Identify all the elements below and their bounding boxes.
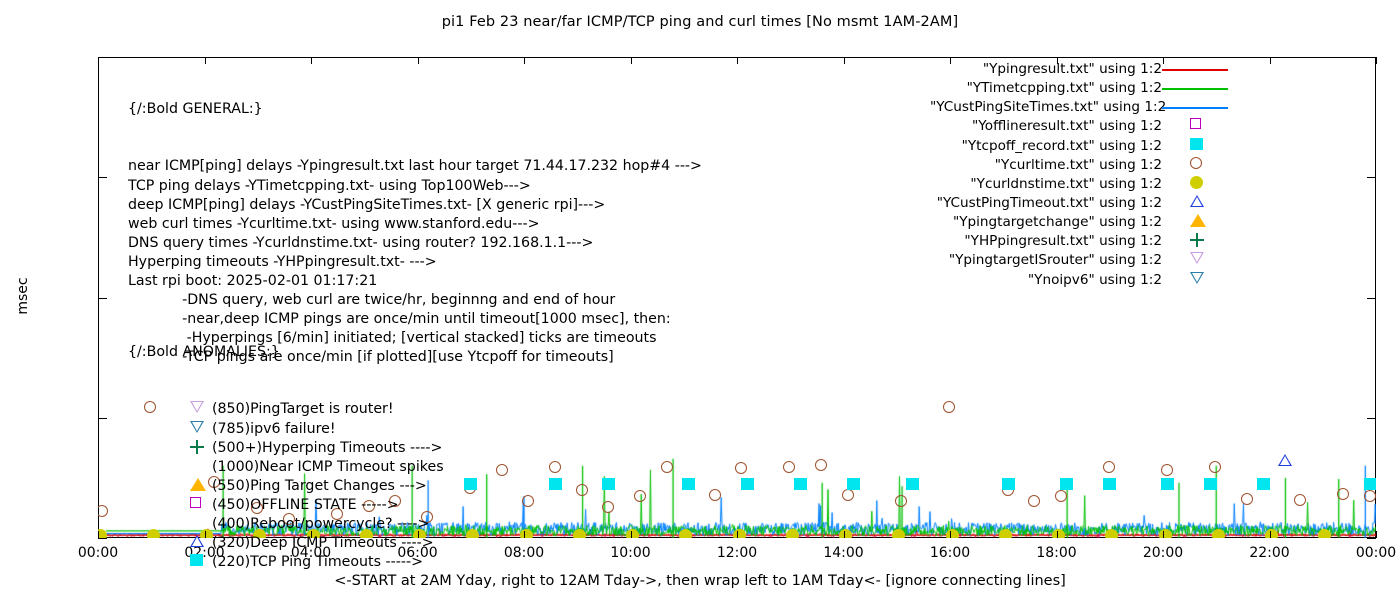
tcp-timeout-point <box>906 478 919 490</box>
x-tick-mark <box>737 57 738 64</box>
circle-filled-marker <box>1162 175 1252 194</box>
legend-entry: "YTimetcpping.txt" using 1:2 <box>930 79 1270 98</box>
anomaly-item: (850)PingTarget is router! <box>128 400 280 419</box>
triangle-up-open-marker <box>190 535 210 552</box>
legend-label: "YHPpingresult.txt" using 1:2 <box>964 233 1162 249</box>
x-tick-label: 12:00 <box>702 545 772 561</box>
legend-label: "Ypingtargetchange" using 1:2 <box>953 214 1162 230</box>
dns-time-point <box>1052 529 1065 538</box>
dns-time-point <box>946 529 959 538</box>
y-tick-mark <box>1367 298 1376 299</box>
triangle-up-filled-marker <box>1162 213 1252 232</box>
anomaly-item: (550)Ping Target Changes ---> <box>128 477 280 496</box>
anomaly-item: (400)Reboot/powercycle? ----> <box>128 515 280 534</box>
anomaly-label: (450)OFFLINE STATE -----> <box>212 496 399 515</box>
tcp-timeout-point <box>602 478 615 490</box>
dns-time-point <box>892 529 905 538</box>
dns-time-point <box>520 529 533 538</box>
legend-entry: "YCustPingTimeout.txt" using 1:2 <box>930 194 1270 213</box>
curl-time-point <box>842 489 854 501</box>
x-tick-label: 22:00 <box>1235 545 1305 561</box>
triangle-down-blue-marker <box>1162 271 1252 290</box>
anomaly-label: (320)Deep ICMP Timeouts ----> <box>212 534 434 553</box>
y-tick-mark <box>98 177 107 178</box>
line-key <box>1162 60 1252 79</box>
triangle-up-filled-marker <box>190 478 210 495</box>
chart-legend: "Ypingresult.txt" using 1:2"YTimetcpping… <box>930 60 1270 290</box>
tcp-timeout-point <box>794 478 807 490</box>
legend-label: "Ynoipv6" using 1:2 <box>1028 272 1162 288</box>
line-key <box>1162 79 1252 98</box>
plus-marker <box>190 440 210 457</box>
triangle-up-open-marker <box>1162 194 1252 213</box>
dns-time-point <box>733 529 746 538</box>
plus-marker <box>1162 232 1252 251</box>
triangle-down-blue-marker <box>190 421 210 438</box>
curl-time-point <box>709 489 721 501</box>
legend-entry: "Ytcpoff_record.txt" using 1:2 <box>930 137 1270 156</box>
legend-entry: "Ypingresult.txt" using 1:2 <box>930 60 1270 79</box>
legend-label: "Ytcpoff_record.txt" using 1:2 <box>962 138 1162 154</box>
x-tick-mark <box>98 531 99 538</box>
square-filled-marker <box>190 554 210 571</box>
y-tick-mark <box>1367 418 1376 419</box>
tcp-timeout-point <box>1002 478 1015 490</box>
x-tick-label: 16:00 <box>915 545 985 561</box>
x-tick-label: 08:00 <box>489 545 559 561</box>
dns-time-point <box>98 529 107 538</box>
x-tick-mark <box>737 531 738 538</box>
curl-time-point <box>661 461 673 473</box>
legend-entry: "YpingtargetISrouter" using 1:2 <box>930 251 1270 270</box>
dns-time-point <box>1159 529 1172 538</box>
tcp-timeout-point <box>1257 478 1270 490</box>
general-line: TCP ping delays -YTimetcpping.txt- using… <box>128 177 702 196</box>
y-tick-mark <box>1367 57 1376 58</box>
x-tick-label: 14:00 <box>809 545 879 561</box>
anomaly-item: (450)OFFLINE STATE -----> <box>128 496 280 515</box>
x-tick-mark <box>1163 531 1164 538</box>
x-tick-mark <box>1376 531 1377 538</box>
curl-time-point <box>815 459 827 471</box>
anomaly-item: (500+)Hyperping Timeouts ----> <box>128 439 280 458</box>
y-tick-mark <box>1367 177 1376 178</box>
y-tick-mark <box>98 418 107 419</box>
y-axis-label: msec <box>15 266 31 326</box>
y-tick-mark <box>1367 538 1376 539</box>
x-tick-mark <box>950 531 951 538</box>
legend-label: "YTimetcpping.txt" using 1:2 <box>967 80 1162 96</box>
chart-title: pi1 Feb 23 near/far ICMP/TCP ping and cu… <box>0 14 1400 30</box>
tcp-timeout-point <box>1161 478 1174 490</box>
anomalies-header: {/:Bold ANOMALIES:} <box>128 343 280 362</box>
circle-open-marker <box>1162 156 1252 175</box>
anomaly-label: (400)Reboot/powercycle? ----> <box>212 515 429 534</box>
x-tick-label: 20:00 <box>1128 545 1198 561</box>
dns-time-point <box>786 529 799 538</box>
anomaly-label: (785)ipv6 failure! <box>212 420 336 439</box>
tcp-timeout-point <box>1364 478 1376 490</box>
legend-entry: "Ynoipv6" using 1:2 <box>930 271 1270 290</box>
curl-time-point <box>1241 493 1253 505</box>
dns-time-point <box>1212 529 1225 538</box>
square-filled-marker <box>1162 137 1252 156</box>
dns-time-point <box>1105 529 1118 538</box>
x-tick-label: 00:00 <box>1341 545 1400 561</box>
tcp-timeout-point <box>549 478 562 490</box>
curl-time-point <box>1055 490 1067 502</box>
legend-entry: "Ycurltime.txt" using 1:2 <box>930 156 1270 175</box>
anomalies-annotation: {/:Bold ANOMALIES:} (850)PingTarget is r… <box>128 305 280 611</box>
curl-time-point <box>496 464 508 476</box>
legend-entry: "YHPpingresult.txt" using 1:2 <box>930 232 1270 251</box>
general-line: deep ICMP[ping] delays -YCustPingSiteTim… <box>128 196 702 215</box>
general-line: DNS query times -Ycurldnstime.txt- using… <box>128 234 702 253</box>
y-tick-mark <box>98 538 107 539</box>
legend-entry: "Yofflineresult.txt" using 1:2 <box>930 117 1270 136</box>
x-tick-mark <box>844 531 845 538</box>
legend-entry: "YCustPingSiteTimes.txt" using 1:2 <box>930 98 1270 117</box>
dns-time-point <box>999 529 1012 538</box>
triangle-down-violet-marker <box>190 401 210 418</box>
x-tick-mark <box>1270 531 1271 538</box>
triangle-down-violet-marker <box>1162 251 1252 270</box>
legend-label: "Yofflineresult.txt" using 1:2 <box>972 118 1162 134</box>
general-line: Hyperping timeouts -YHPpingresult.txt- -… <box>128 253 702 272</box>
anomaly-label: (500+)Hyperping Timeouts ----> <box>212 439 442 458</box>
dns-time-point <box>466 529 479 538</box>
tcp-timeout-point <box>464 478 477 490</box>
tcp-timeout-point <box>1060 478 1073 490</box>
x-tick-mark <box>1376 57 1377 64</box>
anomaly-item: (220)TCP Ping Timeouts -----> <box>128 553 280 572</box>
tcp-timeout-point <box>847 478 860 490</box>
legend-label: "Ypingresult.txt" using 1:2 <box>983 61 1162 77</box>
x-tick-mark <box>524 531 525 538</box>
x-tick-mark <box>844 57 845 64</box>
x-tick-mark <box>1057 531 1058 538</box>
anomaly-label: (1000)Near ICMP Timeout spikes <box>212 458 444 477</box>
anomaly-label: (220)TCP Ping Timeouts -----> <box>212 553 423 572</box>
x-tick-mark <box>631 531 632 538</box>
x-tick-mark <box>98 57 99 64</box>
square-open-marker <box>1162 117 1252 136</box>
general-line: near ICMP[ping] delays -Ypingresult.txt … <box>128 157 702 176</box>
legend-entry: "Ypingtargetchange" using 1:2 <box>930 213 1270 232</box>
anomaly-label: (550)Ping Target Changes ---> <box>212 477 427 496</box>
tcp-timeout-point <box>1204 478 1217 490</box>
curl-time-point <box>1364 490 1376 502</box>
legend-entry: "Ycurldnstime.txt" using 1:2 <box>930 175 1270 194</box>
curl-time-point <box>1103 461 1115 473</box>
tcp-timeout-point <box>1103 478 1116 490</box>
deep-icmp-timeout-point <box>1278 454 1292 466</box>
line-key <box>1162 98 1252 117</box>
x-tick-label: 18:00 <box>1022 545 1092 561</box>
curl-time-point <box>895 495 907 507</box>
y-tick-mark <box>98 57 107 58</box>
legend-label: "Ycurltime.txt" using 1:2 <box>995 157 1162 173</box>
dns-time-point <box>1265 529 1278 538</box>
y-tick-mark <box>98 298 107 299</box>
curl-time-point <box>576 484 588 496</box>
legend-label: "YpingtargetISrouter" using 1:2 <box>949 252 1162 268</box>
dns-time-point <box>679 529 692 538</box>
dns-time-point <box>573 529 586 538</box>
general-header: {/:Bold GENERAL:} <box>128 100 702 119</box>
legend-label: "YCustPingSiteTimes.txt" using 1:2 <box>930 99 1166 115</box>
general-line: Last rpi boot: 2025-02-01 01:17:21 <box>128 272 702 291</box>
x-tick-label: 10:00 <box>596 545 666 561</box>
anomaly-item: (320)Deep ICMP Timeouts ----> <box>128 534 280 553</box>
tcp-timeout-point <box>741 478 754 490</box>
dns-time-point <box>1318 529 1331 538</box>
x-tick-label: 00:00 <box>63 545 133 561</box>
anomaly-item: (1000)Near ICMP Timeout spikes <box>128 458 280 477</box>
dns-time-point <box>626 529 639 538</box>
legend-label: "YCustPingTimeout.txt" using 1:2 <box>937 195 1162 211</box>
curl-time-point <box>1161 464 1173 476</box>
chart-root: pi1 Feb 23 near/far ICMP/TCP ping and cu… <box>0 0 1400 600</box>
square-open-marker <box>190 497 210 514</box>
anomaly-label: (850)PingTarget is router! <box>212 400 394 419</box>
legend-label: "Ycurldnstime.txt" using 1:2 <box>970 176 1162 192</box>
anomaly-item: (785)ipv6 failure! <box>128 420 280 439</box>
dns-time-point <box>839 529 852 538</box>
tcp-timeout-point <box>682 478 695 490</box>
curl-time-point <box>1337 488 1349 500</box>
general-line: web curl times -Ycurltime.txt- using www… <box>128 215 702 234</box>
